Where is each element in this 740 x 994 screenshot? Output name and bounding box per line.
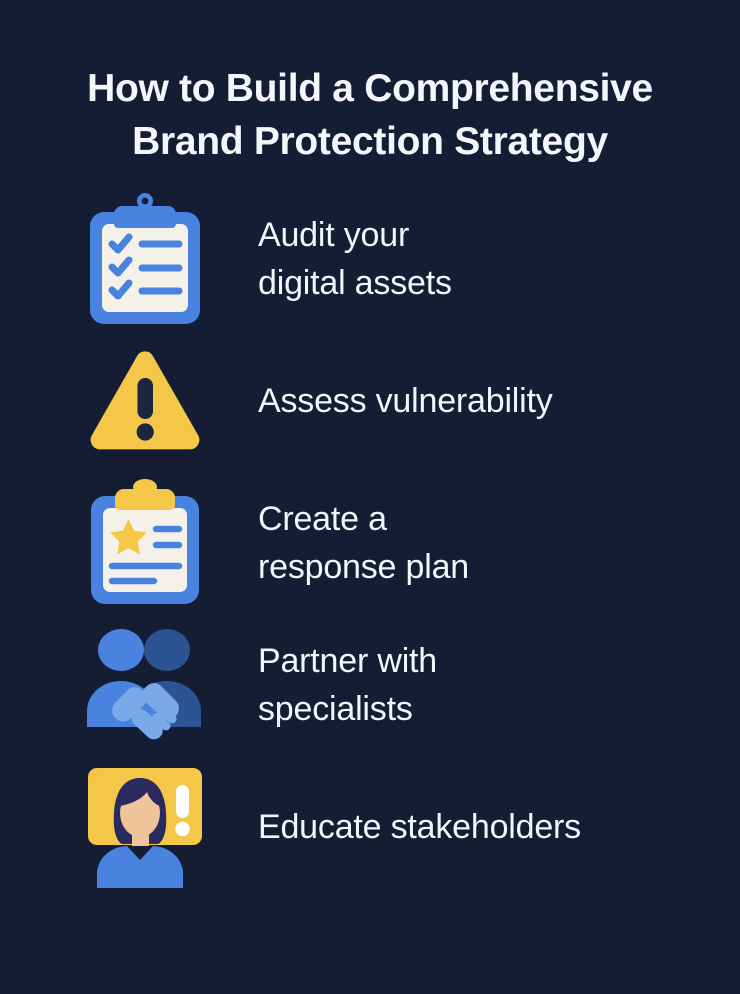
step-label-line-1: Assess vulnerability <box>258 377 553 425</box>
title-line-1: How to Build a Comprehensive <box>46 62 694 115</box>
page-title: How to Build a Comprehensive Brand Prote… <box>0 0 740 168</box>
infographic-canvas: How to Build a Comprehensive Brand Prote… <box>0 0 740 994</box>
handshake-partners-icon <box>84 621 206 749</box>
clipboard-star-icon <box>84 479 206 607</box>
step-label: Audit your digital assets <box>258 211 452 307</box>
step-label-line-2: response plan <box>258 543 469 591</box>
steps-list: Audit your digital assets Assess vulnera… <box>0 188 740 898</box>
step-label: Partner with specialists <box>258 637 437 733</box>
list-item: Educate stakeholders <box>84 756 700 898</box>
title-line-2: Brand Protection Strategy <box>46 115 694 168</box>
list-item: Create a response plan <box>84 472 700 614</box>
clipboard-checklist-icon <box>84 195 206 323</box>
warning-triangle-icon <box>84 337 206 465</box>
step-label: Educate stakeholders <box>258 803 581 851</box>
step-label: Assess vulnerability <box>258 377 553 425</box>
step-label-line-2: specialists <box>258 685 437 733</box>
list-item: Partner with specialists <box>84 614 700 756</box>
list-item: Assess vulnerability <box>84 330 700 472</box>
step-label-line-2: digital assets <box>258 259 452 307</box>
person-alert-board-icon <box>84 763 206 891</box>
step-label: Create a response plan <box>258 495 469 591</box>
step-label-line-1: Audit your <box>258 211 452 259</box>
list-item: Audit your digital assets <box>84 188 700 330</box>
step-label-line-1: Educate stakeholders <box>258 803 581 851</box>
step-label-line-1: Partner with <box>258 637 437 685</box>
step-label-line-1: Create a <box>258 495 469 543</box>
